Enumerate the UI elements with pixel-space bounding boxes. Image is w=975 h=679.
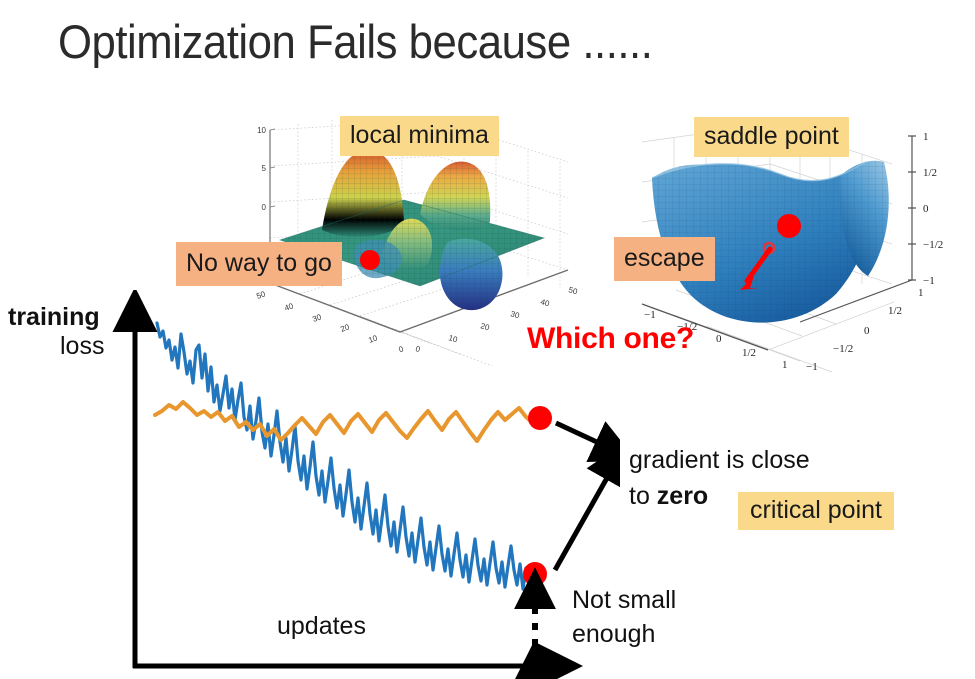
y-tick-1: 1: [918, 287, 924, 299]
y-axis-label-loss: loss: [60, 332, 104, 361]
arrow-from-blue-point: [555, 462, 616, 570]
y-tick-half: 1/2: [888, 305, 902, 317]
callout-saddle-point: saddle point: [694, 117, 849, 157]
z-tick-0: 0: [262, 203, 267, 212]
gradient-line-1: gradient is close: [629, 446, 810, 474]
z-tick-0: 0: [923, 203, 929, 215]
y-tick-neg-half: −1/2: [833, 343, 853, 355]
gradient-line-2-prefix: to: [629, 482, 657, 510]
callout-critical-point: critical point: [738, 492, 894, 530]
z-tick-1: 1: [923, 131, 929, 143]
y-tick-neg1: −1: [806, 361, 818, 373]
z-tick-neg-1: −1: [923, 275, 935, 287]
callout-escape: escape: [614, 237, 715, 281]
callout-local-minima: local minima: [340, 116, 499, 156]
x-tick-0: 0: [716, 333, 722, 345]
not-small-line-2: enough: [572, 620, 655, 648]
z-tick-half: 1/2: [923, 167, 937, 179]
not-small-enough-note: Not small enough: [572, 583, 762, 651]
right-plot-z-ticks: 1 1/2 0 −1/2 −1: [923, 131, 943, 287]
blue-curve-endpoint-marker: [523, 562, 547, 586]
z-tick-neg-half: −1/2: [923, 239, 943, 251]
left-plot-z-ticks: 10 5 0: [257, 126, 266, 212]
z-tick-10: 10: [257, 126, 266, 135]
orange-loss-curve: [155, 402, 540, 441]
x-tick-half: 1/2: [742, 347, 756, 359]
x-tick-neg1: −1: [644, 309, 656, 321]
callout-no-way-to-go: No way to go: [176, 242, 342, 286]
which-one-text: Which one?: [527, 322, 694, 356]
x-axis-label-updates: updates: [277, 612, 366, 641]
left-surface-mesh: [280, 150, 544, 310]
orange-curve-endpoint-marker: [528, 406, 552, 430]
page-title: Optimization Fails because ......: [58, 14, 652, 69]
z-tick-5: 5: [262, 164, 267, 173]
arrow-from-orange-point: [556, 423, 614, 450]
not-small-line-1: Not small: [572, 586, 676, 614]
x-tick-1: 1: [782, 359, 788, 371]
slide-canvas: Optimization Fails because ......: [0, 0, 975, 679]
gradient-line-2-bold: zero: [657, 482, 708, 510]
y-axis-label-training: training: [8, 303, 100, 332]
saddle-red-marker: [777, 214, 801, 238]
left-plot-red-marker: [360, 250, 380, 270]
blue-loss-curve: [157, 323, 535, 589]
y-tick-0: 0: [864, 325, 870, 337]
